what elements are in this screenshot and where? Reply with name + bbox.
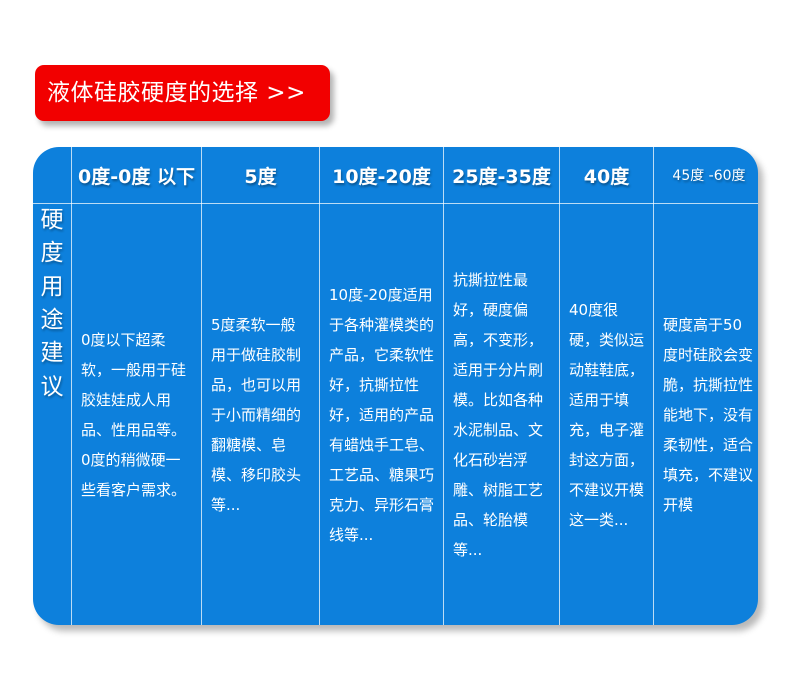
header-cell-4: 40度 — [560, 147, 654, 204]
body-cell-2-text: 10度-20度适用于各种灌模类的 产品，它柔软性好，抗撕拉性好，适用的产品有蜡烛… — [320, 280, 443, 550]
body-cell-2: 10度-20度适用于各种灌模类的 产品，它柔软性好，抗撕拉性好，适用的产品有蜡烛… — [320, 204, 444, 626]
body-cell-5: 硬度高于50度时硅胶会变脆，抗撕拉性能地下，没有柔韧性，适合填充，不建议开模 — [654, 204, 759, 626]
section-banner: 液体硅胶硬度的选择 >> — [35, 65, 330, 121]
header-cell-corner — [33, 147, 72, 204]
header-cell-1: 5度 — [202, 147, 320, 204]
row-label-cell: 硬度用途建议 — [33, 204, 72, 626]
header-cell-0: 0度-0度 以下 — [72, 147, 202, 204]
header-cell-2: 10度-20度 — [320, 147, 444, 204]
table-body-row: 硬度用途建议 0度以下超柔软，一般用于硅胶娃娃成人用品、性用品等。0度的稍微硬一… — [33, 204, 758, 626]
body-cell-1: 5度柔软一般用于做硅胶制品，也可以用于小而精细的翻糖模、皂模、移印胶头等... — [202, 204, 320, 626]
body-cell-4-text: 40度很 硬，类似运动鞋鞋底，适用于填充，电子灌封这方面，不建议开模这一类... — [560, 295, 653, 535]
hardness-table: 0度-0度 以下 5度 10度-20度 25度-35度 40度 45度 -60度… — [33, 147, 758, 625]
body-cell-4: 40度很 硬，类似运动鞋鞋底，适用于填充，电子灌封这方面，不建议开模这一类... — [560, 204, 654, 626]
body-cell-5-text: 硬度高于50度时硅胶会变脆，抗撕拉性能地下，没有柔韧性，适合填充，不建议开模 — [654, 310, 758, 520]
header-cell-3: 25度-35度 — [444, 147, 560, 204]
body-cell-1-text: 5度柔软一般用于做硅胶制品，也可以用于小而精细的翻糖模、皂模、移印胶头等... — [202, 310, 319, 520]
hardness-table-container: 0度-0度 以下 5度 10度-20度 25度-35度 40度 45度 -60度… — [33, 147, 758, 625]
header-cell-5: 45度 -60度 — [654, 147, 759, 204]
body-cell-3: 抗撕拉性最好，硬度偏高，不变形，适用于分片刷模。比如各种水泥制品、文化石砂岩浮雕… — [444, 204, 560, 626]
body-cell-0-text: 0度以下超柔软，一般用于硅胶娃娃成人用品、性用品等。0度的稍微硬一些看客户需求。 — [72, 325, 201, 505]
table-header-row: 0度-0度 以下 5度 10度-20度 25度-35度 40度 45度 -60度 — [33, 147, 758, 204]
body-cell-0: 0度以下超柔软，一般用于硅胶娃娃成人用品、性用品等。0度的稍微硬一些看客户需求。 — [72, 204, 202, 626]
banner-title: 液体硅胶硬度的选择 >> — [47, 82, 306, 105]
row-label-text: 硬度用途建议 — [41, 204, 64, 404]
body-cell-3-text: 抗撕拉性最好，硬度偏高，不变形，适用于分片刷模。比如各种水泥制品、文化石砂岩浮雕… — [444, 265, 559, 565]
